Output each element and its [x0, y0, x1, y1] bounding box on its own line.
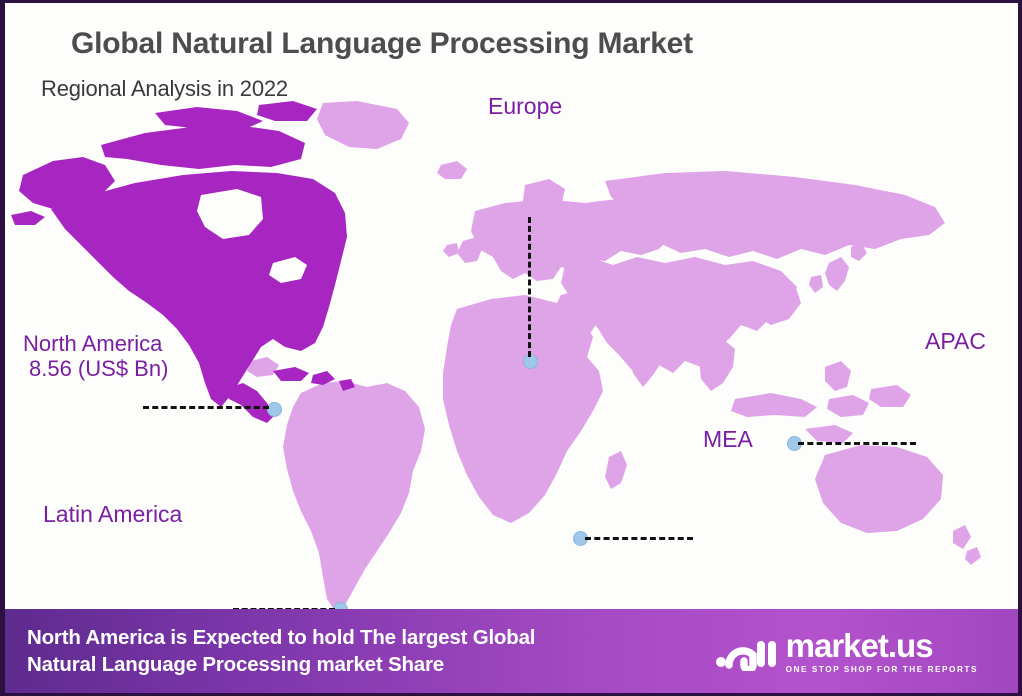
logo-tagline: ONE STOP SHOP FOR THE REPORTS — [786, 665, 978, 674]
footer-statement: North America is Expected to hold The la… — [27, 624, 535, 678]
leader-line-north-america — [143, 406, 269, 409]
footer-line-2: Natural Language Processing market Share — [27, 651, 535, 678]
leader-line-mea — [585, 537, 693, 540]
footer-banner: North America is Expected to hold The la… — [5, 609, 1018, 693]
page-title: Global Natural Language Processing Marke… — [71, 27, 693, 61]
region-label-europe: Europe — [488, 93, 562, 119]
logo-text-group: market.us ONE STOP SHOP FOR THE REPORTS — [786, 629, 978, 674]
region-label-mea: MEA — [703, 426, 753, 452]
map-base-regions — [247, 101, 981, 611]
north-america-name: North America — [23, 331, 162, 356]
region-label-latin-america: Latin America — [43, 501, 182, 527]
north-america-value: 8.56 (US$ Bn) — [23, 356, 168, 381]
brand-logo[interactable]: market.us ONE STOP SHOP FOR THE REPORTS — [715, 629, 1004, 674]
footer-line-1: North America is Expected to hold The la… — [27, 624, 535, 651]
region-label-apac: APAC — [925, 328, 986, 354]
region-label-north-america: North America 8.56 (US$ Bn) — [23, 331, 168, 382]
leader-line-apac — [798, 442, 916, 445]
map-dot-north-america[interactable] — [267, 402, 282, 417]
logo-wordmark: market.us — [786, 629, 978, 662]
leader-line-europe — [528, 217, 531, 357]
market-us-logo-icon — [715, 631, 777, 671]
infographic-container: Global Natural Language Processing Marke… — [0, 0, 1022, 696]
